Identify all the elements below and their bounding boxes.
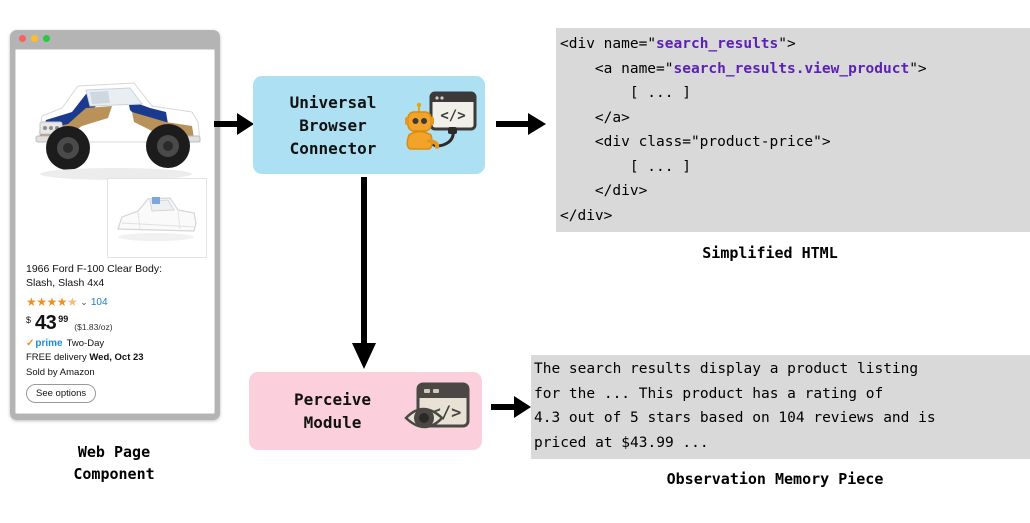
ubc-label-line2: Browser xyxy=(265,114,401,137)
product-card: 1966 Ford F-100 Clear Body: Slash, Slash… xyxy=(15,49,215,414)
code-line-3: [ ... ] xyxy=(560,85,691,101)
ubc-label-line3: Connector xyxy=(265,137,401,160)
obs-line-1: The search results display a product lis… xyxy=(534,361,918,377)
code-line-7: </div> xyxy=(560,183,647,199)
code-line-2: <a name="search_results.view_product"> xyxy=(560,61,927,77)
robot-browser-icon: </> xyxy=(401,87,477,163)
see-options-button[interactable]: See options xyxy=(26,384,96,403)
product-thumbnail-clear-body[interactable] xyxy=(107,178,207,258)
sold-by: Sold by Amazon xyxy=(26,367,206,378)
arrow-connector-to-perceive-icon xyxy=(348,175,380,371)
delivery-date: Wed, Oct 23 xyxy=(89,352,143,363)
svg-text:</>: </> xyxy=(440,108,465,124)
unit-price: ($1.83/oz) xyxy=(74,322,112,332)
delivery-prefix: FREE delivery xyxy=(26,352,89,363)
simplified-html-caption: Simplified HTML xyxy=(560,242,980,264)
product-title-line2: Slash, Slash 4x4 xyxy=(26,277,104,289)
rating-row[interactable]: ★★★★ ★ ⌄ 104 xyxy=(26,296,206,308)
caption-line1: Web Page xyxy=(0,441,228,463)
obs-line-2: for the ... This product has a rating of xyxy=(534,386,883,402)
caption-line2: Component xyxy=(0,463,228,485)
code-line-1: <div name="search_results"> xyxy=(560,36,796,52)
observation-memory-panel: The search results display a product lis… xyxy=(531,355,1030,459)
code-line-8: </div> xyxy=(560,208,612,224)
product-title-line1: 1966 Ford F-100 Clear Body: xyxy=(26,263,162,275)
eye-browser-icon: </> xyxy=(402,378,474,444)
maximize-icon[interactable] xyxy=(43,35,50,42)
perceive-module-label: Perceive Module xyxy=(263,388,402,434)
code-line-5: <div class="product-price"> xyxy=(560,134,831,150)
perceive-module-box[interactable]: Perceive Module </> xyxy=(249,372,482,450)
prime-label: prime xyxy=(35,338,62,349)
arrow-page-to-connector-icon xyxy=(212,108,256,140)
pm-label-line1: Perceive xyxy=(263,388,402,411)
window-title-bar xyxy=(10,30,220,47)
price-fraction: 99 xyxy=(58,314,68,324)
prime-row: ✓ prime Two-Day xyxy=(26,338,206,349)
product-title[interactable]: 1966 Ford F-100 Clear Body: Slash, Slash… xyxy=(26,262,206,290)
arrow-perceive-to-observation-icon xyxy=(489,391,533,423)
pm-label-line2: Module xyxy=(263,411,402,434)
minimize-icon[interactable] xyxy=(31,35,38,42)
price-currency: $ xyxy=(26,315,31,325)
half-star-icon: ★ xyxy=(67,296,77,308)
product-info: 1966 Ford F-100 Clear Body: Slash, Slash… xyxy=(26,262,206,403)
universal-browser-connector-box[interactable]: Universal Browser Connector </> xyxy=(253,76,485,174)
price-whole: 43 xyxy=(35,313,56,333)
delivery-info: FREE delivery Wed, Oct 23 xyxy=(26,352,206,363)
web-page-component-caption: Web Page Component xyxy=(0,441,228,485)
obs-line-3: 4.3 out of 5 stars based on 104 reviews … xyxy=(534,410,936,426)
code-line-4: </a> xyxy=(560,110,630,126)
clear-body-illustration xyxy=(108,179,204,255)
obs-line-4: priced at $43.99 ... xyxy=(534,435,709,451)
observation-memory-caption: Observation Memory Piece xyxy=(540,468,1010,490)
web-page-component-window: 1966 Ford F-100 Clear Body: Slash, Slash… xyxy=(10,30,220,420)
simplified-html-panel: <div name="search_results"> <a name="sea… xyxy=(556,28,1030,232)
review-count-link[interactable]: 104 xyxy=(91,297,108,308)
code-line-6: [ ... ] xyxy=(560,159,691,175)
star-rating-icon: ★★★★ xyxy=(26,296,67,308)
close-icon[interactable] xyxy=(19,35,26,42)
prime-check-icon: ✓ xyxy=(26,338,34,349)
universal-browser-connector-label: Universal Browser Connector xyxy=(265,91,401,160)
price-block: $ 43 99 ($1.83/oz) xyxy=(26,313,206,333)
arrow-connector-to-html-icon xyxy=(494,108,548,140)
prime-speed: Two-Day xyxy=(67,338,104,349)
ubc-label-line1: Universal xyxy=(265,91,401,114)
diagram-canvas: 1966 Ford F-100 Clear Body: Slash, Slash… xyxy=(0,0,1030,523)
chevron-down-icon[interactable]: ⌄ xyxy=(80,297,88,308)
